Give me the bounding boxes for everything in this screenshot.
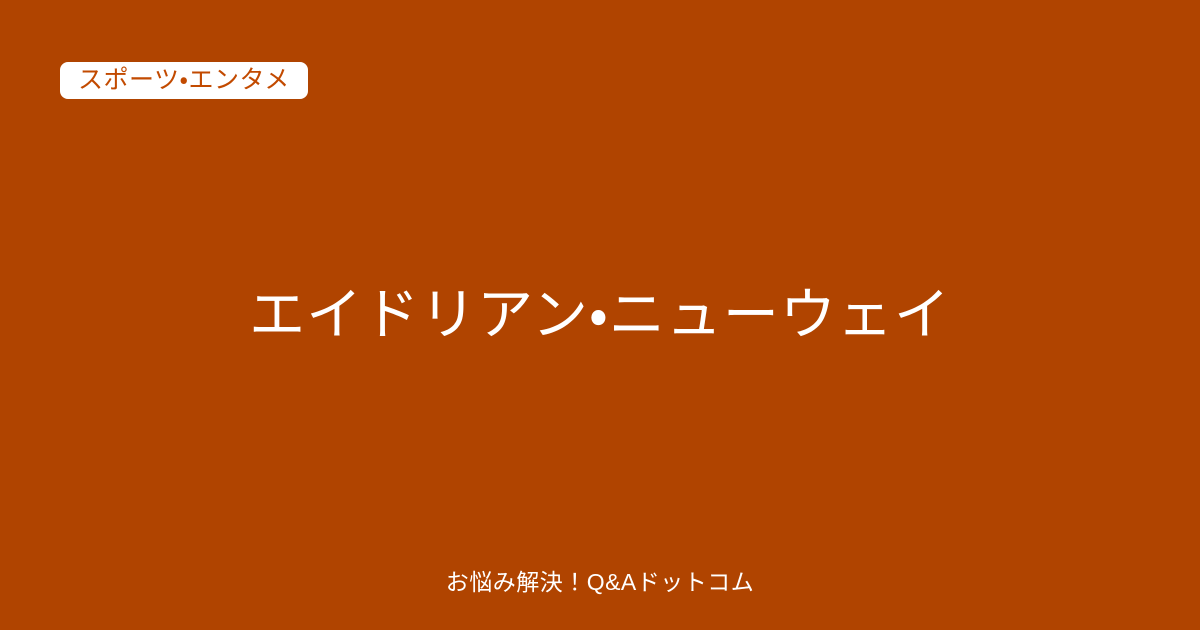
site-footer: お悩み解決！Q&Aドットコム xyxy=(0,569,1200,597)
site-name: お悩み解決！Q&Aドットコム xyxy=(446,569,755,597)
page-title: エイドリアン・ニューウェイ xyxy=(249,277,951,353)
category-badge-label: スポーツ・エンタメ xyxy=(78,68,290,93)
category-badge[interactable]: スポーツ・エンタメ xyxy=(60,62,308,99)
og-share-card: スポーツ・エンタメ エイドリアン・ニューウェイ お悩み解決！Q&Aドットコム xyxy=(0,0,1200,630)
